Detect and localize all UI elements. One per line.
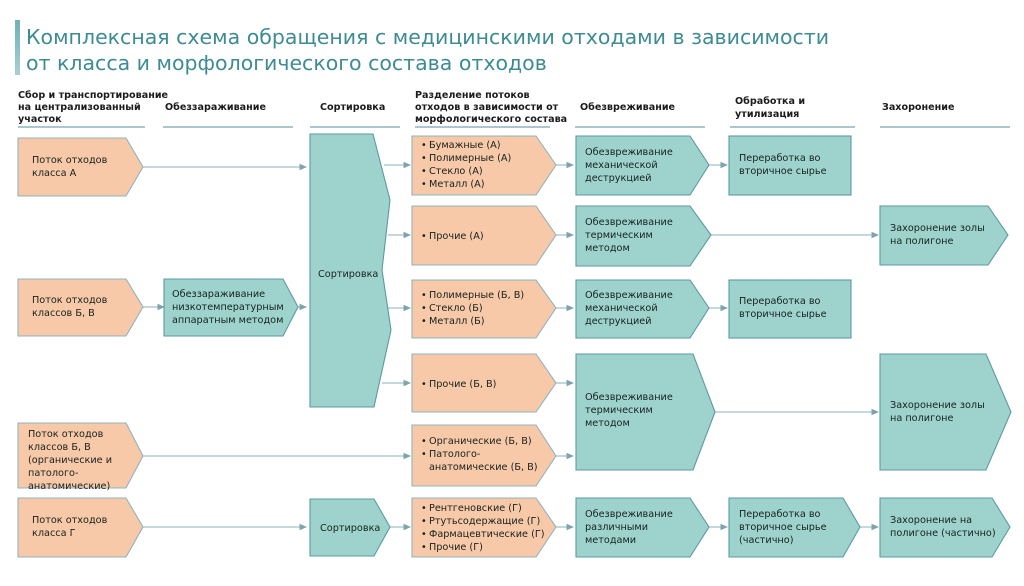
- sorting-main-label: Сортировка: [318, 269, 378, 280]
- col-burial-line-0: Захоронение: [882, 102, 955, 113]
- stream-g-line-0: Поток отходов: [32, 515, 108, 526]
- sep-bv-organic-item-0: Органические (Б, В): [429, 436, 532, 447]
- node-disinfection-lowtemp[interactable]: Обеззараживание низкотемпературным аппар…: [164, 279, 298, 336]
- sep-bv-materials-item-1: Стекло (Б): [429, 303, 483, 314]
- disinfection-lowtemp-line-2: аппаратным методом: [172, 315, 283, 326]
- sep-g-items-bullet-3: •: [421, 542, 427, 553]
- node-sep-bv-materials[interactable]: • Полимерные (Б, В) • Стекло (Б) • Метал…: [412, 280, 556, 338]
- sep-g-items-item-2: Фармацевтические (Г): [429, 529, 545, 540]
- recycle-2-line-0: Переработка во: [739, 296, 821, 307]
- neutral-therm-1-line-0: Обезвреживание: [585, 217, 673, 228]
- sep-bv-organic-bullet-0: •: [421, 436, 427, 447]
- stream-bv-organic-line-0: Поток отходов: [28, 429, 104, 440]
- col-sorting-line-0: Сортировка: [320, 102, 385, 113]
- sep-a-materials-item-1: Полимерные (А): [429, 153, 511, 164]
- sep-bv-materials-bullet-2: •: [421, 316, 427, 327]
- node-sorting-main[interactable]: Сортировка: [310, 134, 391, 407]
- burial-partial-line-0: Захоронение на: [890, 515, 972, 526]
- node-sep-a-materials[interactable]: • Бумажные (А) • Полимерные (А) • Стекло…: [412, 136, 556, 195]
- sep-g-items-bullet-2: •: [421, 529, 427, 540]
- neutral-therm-2-line-1: термическим: [585, 405, 653, 416]
- sep-bv-other-bullet-0: •: [421, 379, 427, 390]
- stream-a-line-1: класса А: [32, 168, 77, 179]
- node-recycle-1[interactable]: Переработка во вторичное сырье: [729, 136, 851, 195]
- col-separation-line-1: отходов в зависимости от: [415, 102, 559, 113]
- node-recycle-2[interactable]: Переработка во вторичное сырье: [729, 280, 851, 338]
- burial-partial-line-1: полигоне (частично): [890, 528, 996, 539]
- node-burial-partial[interactable]: Захоронение на полигоне (частично): [880, 498, 1010, 557]
- node-sep-g-items[interactable]: • Рентгеновские (Г) • Ртутьсодержащие (Г…: [412, 498, 556, 557]
- node-recycle-partial[interactable]: Переработка во вторичное сырье (частично…: [729, 498, 860, 557]
- burial-ash-2-line-1: на полигоне: [890, 413, 953, 424]
- sep-bv-materials-item-2: Металл (Б): [429, 316, 485, 327]
- sep-a-materials-item-2: Стекло (А): [429, 166, 483, 177]
- node-neutral-therm-1[interactable]: Обезвреживание термическим методом: [576, 206, 711, 266]
- node-burial-ash-2[interactable]: Захоронение золы на полигоне: [880, 354, 1011, 470]
- diagram-canvas: Комплексная схема обращения с медицински…: [0, 0, 1024, 586]
- node-sep-bv-other[interactable]: • Прочие (Б, В): [412, 354, 556, 412]
- stream-bv-line-1: классов Б, В: [32, 308, 95, 319]
- neutral-therm-2-line-0: Обезвреживание: [585, 392, 673, 403]
- neutral-various-line-1: различными: [585, 522, 648, 533]
- col-processing-line-1: утилизация: [735, 109, 799, 120]
- title-accent-bar: [15, 20, 20, 75]
- page-title-line2: от класса и морфологического состава отх…: [26, 51, 547, 75]
- sep-a-other-bullet-0: •: [421, 231, 427, 242]
- neutral-therm-2-line-2: методом: [585, 418, 630, 429]
- recycle-partial-line-1: вторичное сырье: [739, 522, 827, 533]
- node-stream-g[interactable]: Поток отходов класса Г: [18, 498, 143, 557]
- sep-a-other-item-0: Прочие (А): [429, 231, 484, 242]
- sep-bv-materials-item-0: Полимерные (Б, В): [429, 290, 524, 301]
- stream-bv-organic-line-1: классов Б, В: [28, 442, 91, 453]
- sep-bv-organic-item-1-cont: анатомические (Б, В): [429, 462, 538, 473]
- node-burial-ash-1[interactable]: Захоронение золы на полигоне: [880, 206, 1008, 265]
- node-neutral-mech-1[interactable]: Обезвреживание механической деструкцией: [576, 136, 709, 195]
- recycle-1-line-1: вторичное сырье: [739, 166, 827, 177]
- col-separation-line-0: Разделение потоков: [415, 90, 530, 101]
- sep-a-materials-bullet-1: •: [421, 153, 427, 164]
- recycle-2-line-1: вторичное сырье: [739, 309, 827, 320]
- recycle-1-line-0: Переработка во: [739, 153, 821, 164]
- node-stream-bv-organic[interactable]: Поток отходов классов Б, В (органические…: [18, 423, 143, 492]
- node-stream-a[interactable]: Поток отходов класса А: [18, 138, 143, 196]
- recycle-partial-line-2: (частично): [739, 535, 793, 546]
- stream-g-line-1: класса Г: [32, 528, 76, 539]
- sep-g-items-item-3: Прочие (Г): [429, 542, 483, 553]
- neutral-mech-1-line-0: Обезвреживание: [585, 147, 673, 158]
- node-stream-bv[interactable]: Поток отходов классов Б, В: [18, 279, 143, 336]
- col-collection-line-2: участок: [18, 114, 62, 125]
- sep-bv-materials-bullet-0: •: [421, 290, 427, 301]
- sep-bv-other-item-0: Прочие (Б, В): [429, 379, 496, 390]
- col-neutralization-line-0: Обезвреживание: [580, 101, 676, 113]
- neutral-mech-2-line-2: деструкцией: [585, 316, 652, 327]
- neutral-mech-2-line-1: механической: [585, 303, 658, 314]
- neutral-therm-1-line-1: термическим: [585, 230, 653, 241]
- col-collection-line-0: Сбор и транспортирование: [18, 89, 169, 101]
- sorting-g-label: Сортировка: [320, 523, 380, 534]
- neutral-various-line-0: Обезвреживание: [585, 509, 673, 520]
- sep-bv-organic-bullet-1: •: [421, 449, 427, 460]
- sep-g-items-bullet-1: •: [421, 516, 427, 527]
- stream-a-line-0: Поток отходов: [32, 155, 108, 166]
- burial-ash-1-line-1: на полигоне: [890, 236, 953, 247]
- stream-bv-organic-line-3: патолого-: [28, 468, 79, 479]
- stream-bv-organic-line-4: анатомические): [28, 481, 110, 492]
- neutral-therm-1-line-2: методом: [585, 243, 630, 254]
- sep-g-items-item-0: Рентгеновские (Г): [429, 503, 522, 514]
- node-sep-a-other[interactable]: • Прочие (А): [412, 206, 556, 265]
- neutral-mech-1-line-1: механической: [585, 160, 658, 171]
- sep-a-materials-bullet-2: •: [421, 166, 427, 177]
- burial-ash-2-line-0: Захоронение золы: [890, 400, 985, 411]
- col-collection-line-1: на централизованный: [18, 102, 141, 113]
- page-title-line1: Комплексная схема обращения с медицински…: [26, 25, 829, 49]
- stream-bv-line-0: Поток отходов: [32, 295, 108, 306]
- node-sep-bv-organic[interactable]: • Органические (Б, В) • Патолого- анатом…: [412, 425, 556, 486]
- node-sorting-g[interactable]: Сортировка: [310, 499, 390, 556]
- sep-g-items-bullet-0: •: [421, 503, 427, 514]
- sep-a-materials-bullet-0: •: [421, 140, 427, 151]
- col-separation-line-2: морфологического состава: [415, 113, 567, 125]
- node-neutral-mech-2[interactable]: Обезвреживание механической деструкцией: [576, 280, 709, 338]
- burial-ash-1-line-0: Захоронение золы: [890, 223, 985, 234]
- node-neutral-various[interactable]: Обезвреживание различными методами: [576, 498, 709, 557]
- neutral-mech-2-line-0: Обезвреживание: [585, 290, 673, 301]
- sep-bv-organic-item-1: Патолого-: [429, 449, 481, 460]
- disinfection-lowtemp-line-1: низкотемпературным: [172, 302, 284, 313]
- stream-bv-organic-line-2: (органические и: [28, 455, 112, 466]
- sep-g-items-item-1: Ртутьсодержащие (Г): [429, 516, 540, 527]
- neutral-mech-1-line-2: деструкцией: [585, 173, 652, 184]
- col-disinfection-line-0: Обеззараживание: [165, 101, 266, 113]
- sep-a-materials-bullet-3: •: [421, 179, 427, 190]
- node-neutral-therm-2[interactable]: Обезвреживание термическим методом: [576, 354, 715, 470]
- recycle-partial-line-0: Переработка во: [739, 509, 821, 520]
- sep-a-materials-item-3: Металл (А): [429, 179, 485, 190]
- sep-a-materials-item-0: Бумажные (А): [429, 140, 501, 151]
- sep-bv-materials-bullet-1: •: [421, 303, 427, 314]
- neutral-various-line-2: методами: [585, 535, 636, 546]
- disinfection-lowtemp-line-0: Обеззараживание: [172, 289, 265, 300]
- col-processing-line-0: Обработка и: [735, 95, 805, 107]
